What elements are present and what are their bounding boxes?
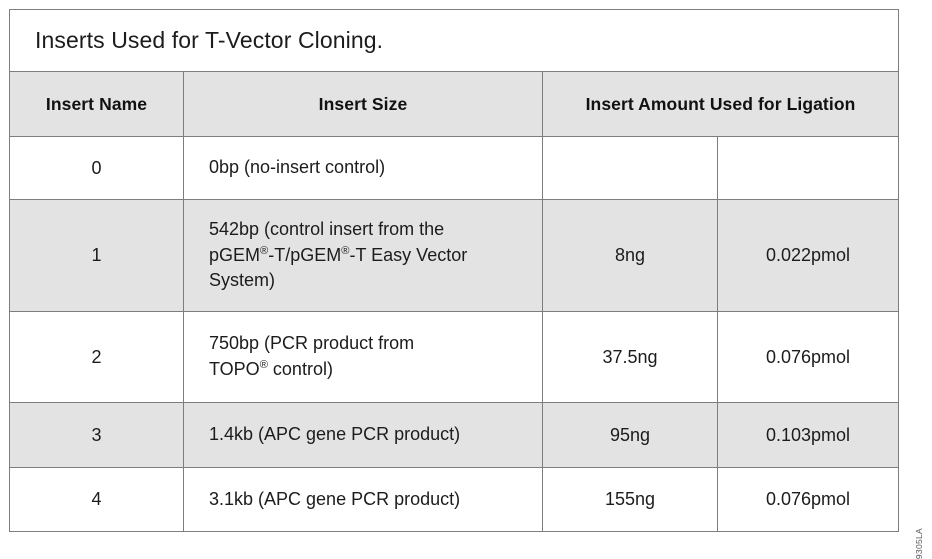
cell-amount-pmol: 0.103pmol bbox=[718, 403, 899, 468]
cell-amount-ng: 95ng bbox=[543, 403, 718, 468]
column-header-insert-size: Insert Size bbox=[184, 72, 543, 137]
cell-insert-name: 3 bbox=[10, 403, 184, 468]
size-line: TOPO® control) bbox=[209, 357, 532, 383]
cell-amount-ng: 155ng bbox=[543, 468, 718, 532]
table-title-row: Inserts Used for T-Vector Cloning. bbox=[10, 10, 899, 72]
cell-amount-ng: 37.5ng bbox=[543, 312, 718, 403]
cell-insert-size: 750bp (PCR product from TOPO® control) bbox=[184, 312, 543, 403]
figure-container: Inserts Used for T-Vector Cloning. Inser… bbox=[0, 0, 932, 534]
figure-title: Inserts Used for T-Vector Cloning. bbox=[10, 10, 899, 72]
table-row: 3 1.4kb (APC gene PCR product) 95ng 0.10… bbox=[10, 403, 899, 468]
column-header-insert-amount: Insert Amount Used for Ligation bbox=[543, 72, 899, 137]
cell-amount-ng: 8ng bbox=[543, 200, 718, 312]
size-line: 0bp (no-insert control) bbox=[209, 155, 532, 181]
cell-amount-ng bbox=[543, 137, 718, 200]
cell-insert-name: 4 bbox=[10, 468, 184, 532]
registered-trademark-icon: ® bbox=[260, 359, 268, 371]
cell-insert-size: 1.4kb (APC gene PCR product) bbox=[184, 403, 543, 468]
table-header-row: Insert Name Insert Size Insert Amount Us… bbox=[10, 72, 899, 137]
cell-insert-name: 1 bbox=[10, 200, 184, 312]
cell-amount-pmol bbox=[718, 137, 899, 200]
cell-insert-size: 542bp (control insert from the pGEM®-T/p… bbox=[184, 200, 543, 312]
cell-insert-size: 0bp (no-insert control) bbox=[184, 137, 543, 200]
column-header-insert-name: Insert Name bbox=[10, 72, 184, 137]
cell-insert-name: 0 bbox=[10, 137, 184, 200]
cell-amount-pmol: 0.076pmol bbox=[718, 468, 899, 532]
registered-trademark-icon: ® bbox=[260, 245, 268, 257]
size-line: 3.1kb (APC gene PCR product) bbox=[209, 487, 532, 513]
inserts-table: Inserts Used for T-Vector Cloning. Inser… bbox=[9, 9, 899, 532]
size-line: 542bp (control insert from the bbox=[209, 217, 532, 243]
table-row: 2 750bp (PCR product from TOPO® control)… bbox=[10, 312, 899, 403]
table-row: 4 3.1kb (APC gene PCR product) 155ng 0.0… bbox=[10, 468, 899, 532]
table-row: 0 0bp (no-insert control) bbox=[10, 137, 899, 200]
size-line: 1.4kb (APC gene PCR product) bbox=[209, 422, 532, 448]
size-line: System) bbox=[209, 268, 532, 294]
cell-amount-pmol: 0.022pmol bbox=[718, 200, 899, 312]
size-line: 750bp (PCR product from bbox=[209, 331, 532, 357]
table-row: 1 542bp (control insert from the pGEM®-T… bbox=[10, 200, 899, 312]
cell-insert-name: 2 bbox=[10, 312, 184, 403]
cell-amount-pmol: 0.076pmol bbox=[718, 312, 899, 403]
figure-code-label: 9305LA bbox=[914, 528, 924, 559]
registered-trademark-icon: ® bbox=[341, 245, 349, 257]
size-line: pGEM®-T/pGEM®-T Easy Vector bbox=[209, 243, 532, 269]
cell-insert-size: 3.1kb (APC gene PCR product) bbox=[184, 468, 543, 532]
